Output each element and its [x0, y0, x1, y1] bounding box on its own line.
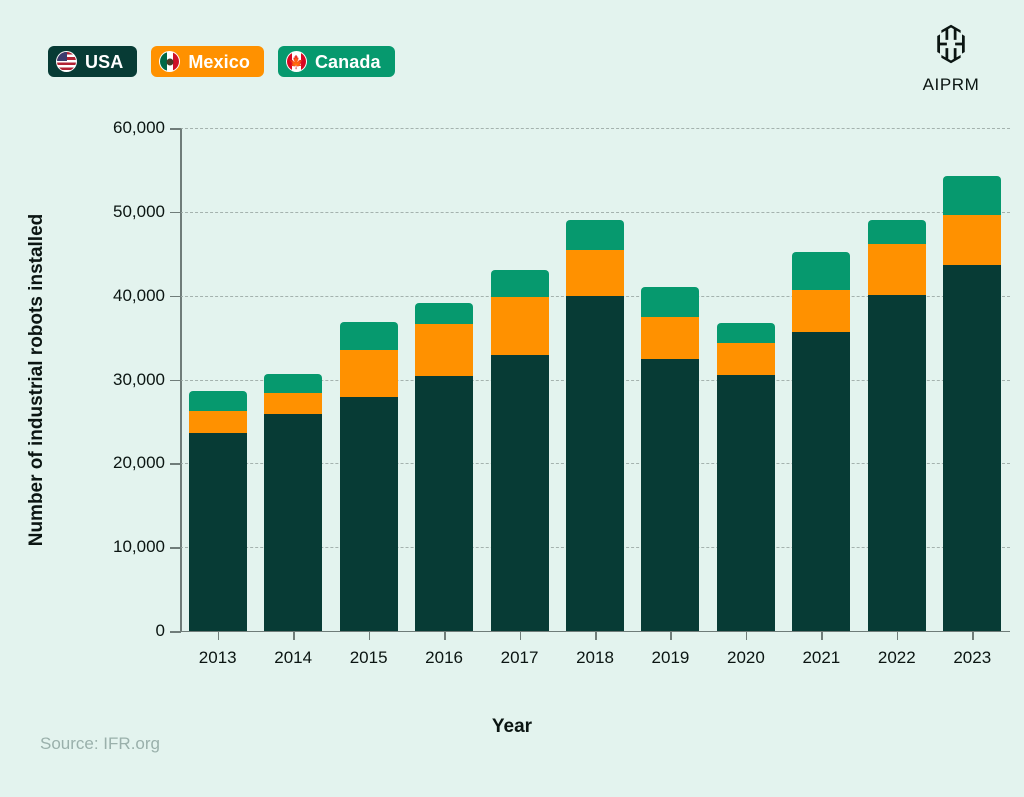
- y-tick-mark: [170, 463, 181, 465]
- bar-segment-mexico: [340, 350, 398, 397]
- y-tick-mark: [170, 547, 181, 549]
- bar-segment-canada: [717, 323, 775, 344]
- x-tick-label-2017: 2017: [501, 648, 539, 668]
- x-tick-mark: [369, 631, 371, 640]
- bar-segment-canada: [415, 303, 473, 324]
- y-tick-label: 10,000: [0, 537, 165, 557]
- gridline-60000: [180, 128, 1010, 129]
- bar-2023[interactable]: [943, 176, 1001, 631]
- gridline-50000: [180, 212, 1010, 213]
- bar-segment-mexico: [868, 244, 926, 295]
- x-tick-mark: [746, 631, 748, 640]
- x-axis-title: Year: [492, 716, 532, 738]
- x-tick-mark: [444, 631, 446, 640]
- x-tick-mark: [293, 631, 295, 640]
- bar-2015[interactable]: [340, 322, 398, 631]
- bar-2018[interactable]: [566, 220, 624, 631]
- bar-segment-mexico: [264, 393, 322, 414]
- x-tick-mark: [595, 631, 597, 640]
- x-tick-mark: [821, 631, 823, 640]
- bar-2017[interactable]: [491, 270, 549, 631]
- bar-segment-mexico: [792, 290, 850, 332]
- y-tick-mark: [170, 631, 181, 633]
- bar-segment-usa: [641, 359, 699, 631]
- bar-segment-usa: [792, 332, 850, 631]
- y-tick-label: 20,000: [0, 453, 165, 473]
- x-tick-label-2013: 2013: [199, 648, 237, 668]
- bar-segment-usa: [868, 295, 926, 631]
- y-tick-label: 50,000: [0, 202, 165, 222]
- bar-segment-mexico: [189, 411, 247, 433]
- y-tick-mark: [170, 380, 181, 382]
- x-tick-label-2014: 2014: [274, 648, 312, 668]
- x-tick-mark: [670, 631, 672, 640]
- bar-segment-canada: [566, 220, 624, 250]
- source-caption: Source: IFR.org: [40, 734, 160, 754]
- plot-area: [180, 128, 1010, 631]
- bar-segment-usa: [491, 355, 549, 631]
- x-tick-label-2021: 2021: [802, 648, 840, 668]
- bar-segment-canada: [943, 176, 1001, 215]
- stacked-bar-chart: 010,00020,00030,00040,00050,00060,000 20…: [0, 0, 1024, 797]
- y-tick-mark: [170, 296, 181, 298]
- y-tick-label: 60,000: [0, 118, 165, 138]
- x-tick-mark: [972, 631, 974, 640]
- bar-2019[interactable]: [641, 287, 699, 631]
- bar-segment-mexico: [566, 250, 624, 295]
- x-tick-mark: [218, 631, 220, 640]
- y-tick-label: 30,000: [0, 370, 165, 390]
- bar-2022[interactable]: [868, 220, 926, 631]
- x-tick-mark: [520, 631, 522, 640]
- x-tick-label-2022: 2022: [878, 648, 916, 668]
- bar-segment-usa: [566, 296, 624, 631]
- bar-segment-usa: [943, 265, 1001, 631]
- y-tick-mark: [170, 212, 181, 214]
- bar-2016[interactable]: [415, 303, 473, 631]
- bar-segment-mexico: [491, 297, 549, 355]
- x-tick-label-2016: 2016: [425, 648, 463, 668]
- y-tick-mark: [170, 128, 181, 130]
- y-tick-label: 40,000: [0, 286, 165, 306]
- bar-segment-canada: [189, 391, 247, 411]
- bar-2020[interactable]: [717, 323, 775, 632]
- bar-2021[interactable]: [792, 252, 850, 631]
- bar-segment-usa: [340, 397, 398, 631]
- bar-segment-canada: [641, 287, 699, 317]
- bar-segment-canada: [340, 322, 398, 351]
- bar-segment-canada: [264, 374, 322, 392]
- bar-segment-canada: [868, 220, 926, 243]
- bar-segment-mexico: [641, 317, 699, 358]
- x-tick-mark: [897, 631, 899, 640]
- bar-segment-canada: [792, 252, 850, 290]
- bar-segment-usa: [415, 376, 473, 631]
- y-axis-title: Number of industrial robots installed: [26, 214, 48, 547]
- x-tick-label-2018: 2018: [576, 648, 614, 668]
- x-tick-label-2015: 2015: [350, 648, 388, 668]
- x-tick-label-2020: 2020: [727, 648, 765, 668]
- bar-segment-canada: [491, 270, 549, 298]
- bar-segment-usa: [264, 414, 322, 631]
- bar-2013[interactable]: [189, 391, 247, 631]
- bar-segment-mexico: [943, 215, 1001, 264]
- y-tick-label: 0: [0, 621, 165, 641]
- bar-segment-usa: [717, 375, 775, 631]
- x-tick-label-2019: 2019: [652, 648, 690, 668]
- bar-segment-usa: [189, 433, 247, 631]
- bar-segment-mexico: [717, 343, 775, 375]
- bar-2014[interactable]: [264, 374, 322, 631]
- x-tick-label-2023: 2023: [953, 648, 991, 668]
- bar-segment-mexico: [415, 324, 473, 376]
